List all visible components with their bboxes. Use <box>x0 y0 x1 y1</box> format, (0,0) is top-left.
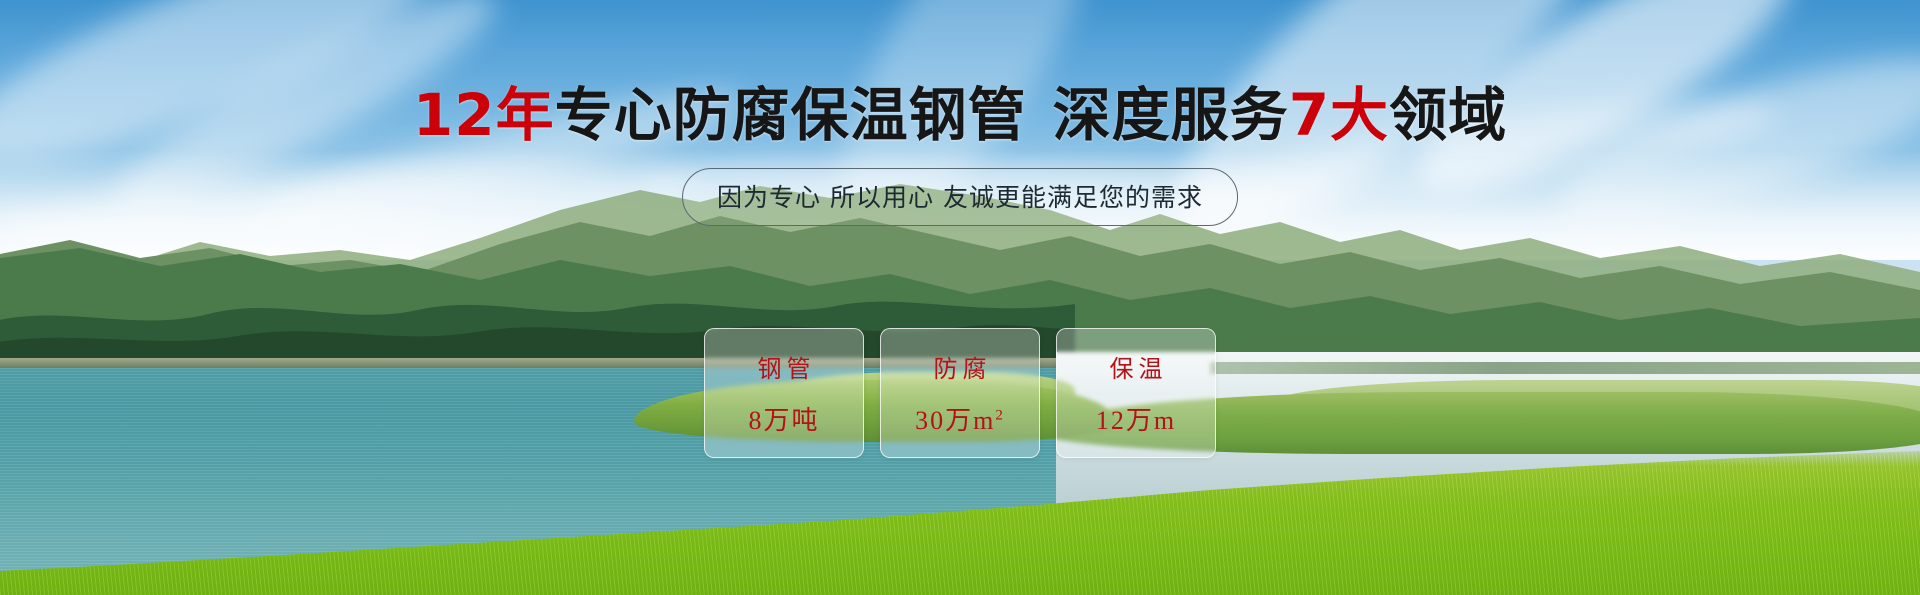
headline-fields-tail: 领域 <box>1389 81 1507 149</box>
stat-card-value: 12万m <box>1096 400 1176 437</box>
headline-fields-unit: 大 <box>1330 81 1389 149</box>
stat-card-value-superscript: 2 <box>995 407 1005 423</box>
headline-service-text: 深度服务 <box>1053 81 1289 149</box>
far-shore-strip <box>1210 362 1920 374</box>
banner-subtitle-pill: 因为专心 所以用心 友诚更能满足您的需求 <box>682 168 1238 226</box>
headline-years-number: 12 <box>413 81 496 149</box>
stat-card-label: 钢管 <box>753 349 816 384</box>
stat-card-group: 钢管 8万吨 防腐 30万m2 保温 12万m <box>704 328 1216 458</box>
stat-card-label: 防腐 <box>929 349 992 384</box>
stat-card-steel-pipe[interactable]: 钢管 8万吨 <box>704 328 864 458</box>
headline-fields-number: 7 <box>1289 81 1330 149</box>
hero-banner: 12年专心防腐保温钢管深度服务7大领域 因为专心 所以用心 友诚更能满足您的需求… <box>0 0 1920 595</box>
stat-card-value-main: 12万m <box>1096 406 1176 435</box>
stat-card-value: 30万m2 <box>915 400 1005 437</box>
stat-card-value-main: 8万吨 <box>748 406 819 435</box>
stat-card-label: 保温 <box>1105 349 1168 384</box>
stat-card-insulation[interactable]: 保温 12万m <box>1056 328 1216 458</box>
stat-card-value: 8万吨 <box>748 400 819 437</box>
headline-main-text: 专心防腐保温钢管 <box>555 81 1027 149</box>
stat-card-anticorrosion[interactable]: 防腐 30万m2 <box>880 328 1040 458</box>
stat-card-value-main: 30万m <box>915 406 995 435</box>
banner-headline: 12年专心防腐保温钢管深度服务7大领域 <box>0 86 1920 144</box>
headline-years-unit: 年 <box>496 81 555 149</box>
